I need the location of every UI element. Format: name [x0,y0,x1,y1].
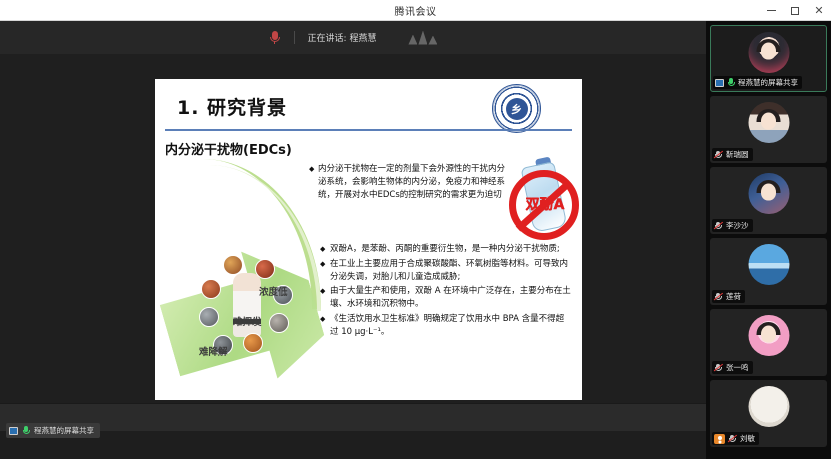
taskbar-item-label: 程燕慧的屏幕共享 [34,425,94,436]
university-seal-icon: 乡 [492,84,541,133]
maximize-button[interactable] [783,0,807,21]
food-photo-2 [255,259,275,279]
exposure-photo-cluster [199,255,295,355]
bullet-text: 双酚A，是苯酚、丙酮的重要衍生物，是一种内分泌干扰物质; [330,244,560,254]
bullet-text: 由于大量生产和使用，双酚 A 在环境中广泛存在，主要分布在土壤、水环境和沉积物中… [330,286,571,309]
bullet-marker-icon: ◆ [320,244,325,255]
list-item: ◆ 在工业上主要应用于合成聚碳酸酯、环氧树脂等材料。可导致内分泌失调，对胎儿和儿… [320,258,572,284]
food-photo-1 [223,255,243,275]
intro-paragraph-text: 内分泌干扰物在一定的剂量下会外源性的干扰内分泌系统，会影响生物体的内分泌，免疫力… [318,164,505,200]
title-divider [165,129,572,131]
window-controls: ✕ [759,0,831,21]
bullet-marker-icon: ◆ [320,259,325,270]
microphone-muted-icon [714,363,723,372]
bpa-label: 双酚A [517,194,573,214]
slide-title: 1. 研究背景 [177,93,287,120]
close-button[interactable]: ✕ [807,0,831,21]
participant-name: 张一鸣 [726,362,749,373]
participant-namebar: 刘敏 [712,432,759,445]
participant-namebar: 李沙沙 [712,219,753,232]
arrow-label-2: 难降解 [199,344,228,358]
microphone-muted-icon [714,292,723,301]
list-item: ◆ 由于大量生产和使用，双酚 A 在环境中广泛存在，主要分布在土壤、水环境和沉积… [320,285,572,311]
meeting-status-bar: 正在讲话: 程燕慧 [0,21,706,54]
close-icon: ✕ [814,5,823,16]
participant-namebar: 靳瑞圆 [712,148,753,161]
green-arrow-graphic: 浓度低 难挥发 难降解 [163,159,328,389]
microphone-on-icon [727,78,735,87]
avatar [748,32,789,73]
microphone-muted-icon [714,150,723,159]
audio-wave-icon [408,31,437,45]
arrow-label-0: 浓度低 [259,284,288,298]
taskbar-share-item[interactable]: 程燕慧的屏幕共享 [6,423,100,438]
list-item: ◆ 《生活饮用水卫生标准》明确规定了饮用水中 BPA 含量不得超过 10 μg·… [320,313,572,339]
participant-tile-4[interactable]: 张一鸣 [710,309,827,376]
participant-namebar: 莲荷 [712,290,745,303]
bullet-marker-icon: ◆ [320,286,325,297]
avatar [748,386,789,427]
participant-name: 莲荷 [726,291,741,302]
bpa-prohibition-icon: 双酚A [507,162,581,242]
avatar [748,244,789,285]
shared-screen-stage: 1. 研究背景 乡 内分泌干扰物(EDCs) [0,54,706,431]
food-photo-8 [201,279,221,299]
participant-name: 靳瑞圆 [726,149,749,160]
participant-tile-5[interactable]: 刘敏 [710,380,827,447]
participant-name: 刘敏 [740,433,755,444]
participant-namebar: 程燕慧的屏幕共享 [713,76,802,89]
participant-namebar: 张一鸣 [712,361,753,374]
active-speaker-indicator: 正在讲话: 程燕慧 [269,30,438,45]
product-photo-7 [199,307,219,327]
screen-share-icon [9,427,18,435]
maximize-icon [791,7,799,15]
participant-tile-1[interactable]: 靳瑞圆 [710,96,827,163]
host-badge-icon [714,434,725,444]
minimize-icon [767,10,776,11]
bullet-text: 《生活饮用水卫生标准》明确规定了饮用水中 BPA 含量不得超过 10 μg·L⁻… [330,314,564,337]
microphone-on-icon [22,426,30,435]
avatar [748,173,789,214]
slide-bullet-list: ◆ 双酚A，是苯酚、丙酮的重要衍生物，是一种内分泌干扰物质; ◆ 在工业上主要应… [320,243,572,340]
participant-tile-0[interactable]: 程燕慧的屏幕共享 [710,25,827,92]
participant-tile-2[interactable]: 李沙沙 [710,167,827,234]
arrow-label-1: 难挥发 [233,314,262,328]
app-title: 腾讯会议 [395,3,437,18]
microphone-muted-icon [714,221,723,230]
slide-subheading: 内分泌干扰物(EDCs) [165,139,292,158]
slide-intro-paragraph: ◆ 内分泌干扰物在一定的剂量下会外源性的干扰内分泌系统，会影响生物体的内分泌，免… [318,163,508,203]
speaking-label: 正在讲话: 程燕慧 [308,31,377,44]
list-item: ◆ 双酚A，是苯酚、丙酮的重要衍生物，是一种内分泌干扰物质; [320,243,572,256]
avatar [748,315,789,356]
tencent-meeting-window: 腾讯会议 ✕ 正在讲话: 程燕慧 1. 研究背景 乡 [0,0,831,459]
bullet-marker-icon: ◆ [309,164,314,175]
bullet-marker-icon: ◆ [320,314,325,325]
product-photo-4 [269,313,289,333]
divider [294,31,295,44]
bullet-text: 在工业上主要应用于合成聚碳酸酯、环氧树脂等材料。可导致内分泌失调，对胎儿和儿童造… [330,259,568,282]
participant-name: 程燕慧的屏幕共享 [738,77,798,88]
participant-tile-3[interactable]: 莲荷 [710,238,827,305]
participant-name: 李沙沙 [726,220,749,231]
screen-share-icon [715,79,724,87]
avatar [748,102,789,143]
bottom-taskbar: 程燕慧的屏幕共享 [0,403,706,431]
participant-rail[interactable]: 程燕慧的屏幕共享 靳瑞圆 李沙沙 莲荷 [706,21,831,459]
minimize-button[interactable] [759,0,783,21]
microphone-active-icon [269,30,281,45]
food-photo-5 [243,333,263,353]
title-bar: 腾讯会议 ✕ [0,0,831,21]
presentation-slide: 1. 研究背景 乡 内分泌干扰物(EDCs) [155,79,582,400]
microphone-muted-icon [728,434,737,443]
